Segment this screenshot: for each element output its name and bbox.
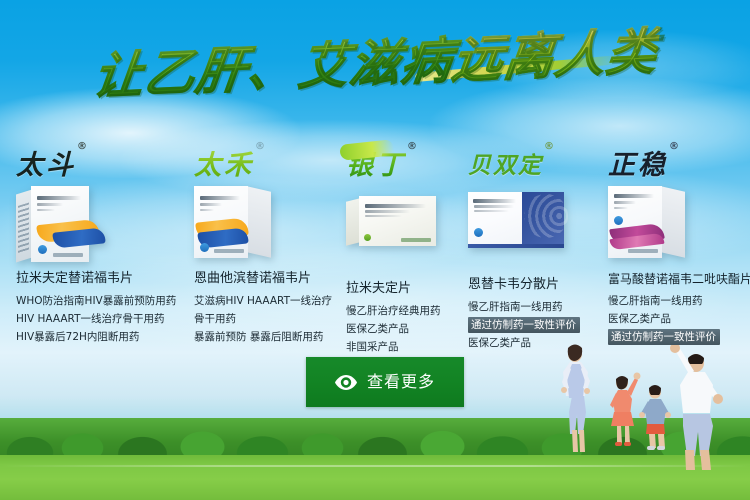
promo-banner: 让乙肝、艾滋病远离人类 (0, 0, 750, 500)
product-features: WHO防治指南HIV暴露前预防用药 HIV HAAART一线治疗骨干用药 HIV… (4, 291, 178, 345)
product-features: 艾滋病HIV HAAART一线治疗 骨干用药 暴露前预防 暴露后阻断用药 (182, 291, 330, 345)
product-features: 慢乙肝治疗经典用药 医保乙类产品 非国采产品 (334, 301, 452, 355)
product-feature: 医保乙类产品 (468, 337, 531, 349)
product-card[interactable]: 正稳 ® 富马酸替诺福韦二吡呋酯片 慢乙肝 (592, 140, 750, 340)
product-card[interactable]: 太斗 ® 拉米夫定替诺福韦片 WHO防治指南HIV暴露前预防用药 HIV HAA… (0, 140, 178, 340)
figure-father (670, 343, 723, 470)
brand-logo: 银丁 ® (334, 140, 452, 180)
family-illustration (548, 338, 750, 488)
product-title: 拉米夫定片 (334, 280, 452, 298)
brand-logo: 贝双定 ® (456, 140, 592, 180)
product-title: 拉米夫定替诺福韦片 (4, 270, 178, 288)
figure-mother (561, 345, 590, 453)
brand-name: 太禾 (194, 151, 254, 180)
product-feature: HIV HAAART一线治疗骨干用药 (16, 313, 165, 325)
registered-mark-icon: ® (255, 142, 265, 152)
product-features: 慢乙肝指南一线用药 通过仿制药一致性评价 医保乙类产品 (456, 297, 592, 351)
brand-name: 太斗 (16, 151, 76, 180)
product-title: 恩曲他滨替诺福韦片 (182, 270, 330, 288)
product-feature: 暴露前预防 暴露后阻断用药 (194, 331, 323, 343)
product-image (596, 186, 750, 264)
product-feature: 骨干用药 (194, 313, 236, 325)
product-feature: 医保乙类产品 (346, 323, 409, 335)
product-badge: 通过仿制药一致性评价 (468, 317, 580, 333)
registered-mark-icon: ® (77, 142, 87, 152)
eye-icon (335, 375, 357, 390)
product-image (182, 186, 330, 264)
product-feature: 慢乙肝治疗经典用药 (346, 305, 441, 317)
page-title: 让乙肝、艾滋病远离人类 (89, 21, 660, 106)
headline-accent-text: 远离人类 (449, 22, 661, 89)
registered-mark-icon: ® (544, 142, 554, 152)
registered-mark-icon: ® (669, 142, 679, 152)
figure-boy (639, 385, 671, 450)
brand-logo: 正稳 ® (596, 140, 750, 180)
product-title: 恩替卡韦分散片 (456, 276, 592, 294)
product-card[interactable]: 贝双定 ® 恩替卡韦分散片 慢乙肝指南一线用药 通过仿制 (452, 140, 592, 340)
product-feature: 医保乙类产品 (608, 313, 671, 325)
product-feature: 艾滋病HIV HAAART一线治疗 (194, 295, 332, 307)
product-feature: 慢乙肝指南一线用药 (468, 301, 563, 313)
brand-logo: 太禾 ® (182, 140, 330, 180)
product-features: 慢乙肝指南一线用药 医保乙类产品 通过仿制药一致性评价 (596, 291, 750, 345)
product-card[interactable]: 银丁 ® 拉米夫定片 慢乙肝治疗经典用药 医保乙类产 (330, 140, 452, 340)
product-image (334, 196, 452, 274)
registered-mark-icon: ® (407, 142, 417, 152)
view-more-label: 查看更多 (367, 373, 435, 391)
product-image (456, 192, 592, 270)
brand-name: 贝双定 (468, 151, 543, 180)
product-feature: 慢乙肝指南一线用药 (608, 295, 703, 307)
product-feature: WHO防治指南HIV暴露前预防用药 (16, 295, 176, 307)
brand-name: 正稳 (608, 151, 668, 180)
product-list: 太斗 ® 拉米夫定替诺福韦片 WHO防治指南HIV暴露前预防用药 HIV HAA… (0, 140, 750, 340)
brand-logo: 太斗 ® (4, 140, 178, 180)
view-more-button[interactable]: 查看更多 (306, 357, 464, 407)
product-card[interactable]: 太禾 ® 恩曲他滨替诺福韦片 艾滋病HIV HAAART一线治疗 骨干用药 (178, 140, 330, 340)
product-badge: 通过仿制药一致性评价 (608, 329, 720, 345)
product-feature: HIV暴露后72H内阻断用药 (16, 331, 139, 343)
headline-area: 让乙肝、艾滋病远离人类 (0, 34, 750, 106)
product-title: 富马酸替诺福韦二吡呋酯片 (596, 270, 750, 288)
figure-girl (610, 373, 641, 447)
headline-primary-text: 让乙肝、艾滋病 (90, 32, 456, 106)
product-feature: 非国采产品 (346, 341, 399, 353)
product-image (4, 186, 178, 264)
